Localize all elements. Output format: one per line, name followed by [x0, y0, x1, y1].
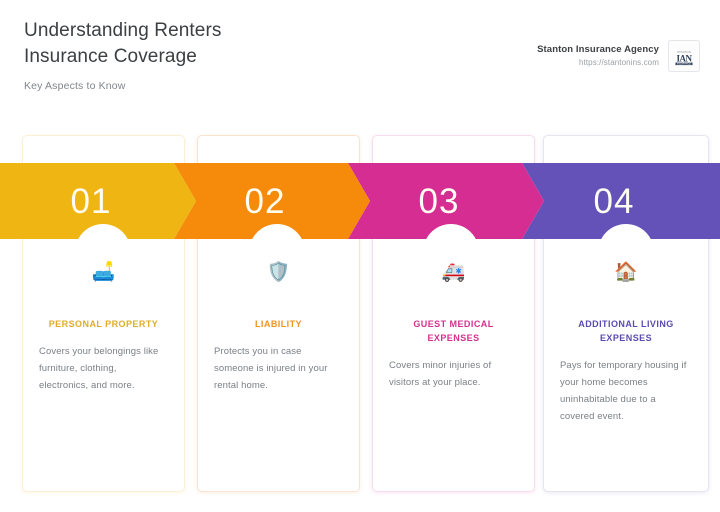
- brand-url[interactable]: https://stantonins.com: [537, 57, 659, 69]
- brand-name: Stanton Insurance Agency: [537, 43, 659, 56]
- step-number-4: 04: [594, 184, 635, 219]
- house-icon: 🏠: [558, 255, 694, 289]
- shield-icon-glyph: 🛡️: [267, 263, 291, 282]
- brand-block: Stanton Insurance Agency https://stanton…: [537, 40, 700, 72]
- house-icon-glyph: 🏠: [614, 263, 638, 282]
- page-title-line-1: Understanding Renters: [24, 18, 444, 44]
- step-card-3-text: Covers minor injuries of visitors at you…: [387, 357, 520, 391]
- shield-icon: 🛡️: [212, 255, 345, 289]
- ambulance-icon-glyph: 🚑: [442, 263, 466, 282]
- step-card-2-body: 🛡️ LIABILITY Protects you in case someon…: [198, 255, 359, 394]
- ambulance-icon: 🚑: [387, 255, 520, 289]
- step-card-4-body: 🏠 ADDITIONAL LIVING EXPENSES Pays for te…: [544, 255, 708, 425]
- couch-icon-glyph: 🛋️: [92, 263, 116, 282]
- brand-text: Stanton Insurance Agency https://stanton…: [537, 43, 659, 69]
- svg-text:INSURANCE: INSURANCE: [677, 63, 691, 66]
- header: Understanding Renters Insurance Coverage…: [0, 0, 720, 120]
- step-card-1-body: 🛋️ PERSONAL PROPERTY Covers your belongi…: [23, 255, 184, 394]
- step-card-2-text: Protects you in case someone is injured …: [212, 343, 345, 394]
- couch-icon: 🛋️: [37, 255, 170, 289]
- step-number-1: 01: [71, 184, 112, 219]
- step-card-4-text: Pays for temporary housing if your home …: [558, 357, 694, 425]
- step-card-3-heading: GUEST MEDICAL EXPENSES: [387, 317, 520, 345]
- infographic-page: Understanding Renters Insurance Coverage…: [0, 0, 720, 512]
- step-number-3: 03: [419, 184, 460, 219]
- page-title: Understanding Renters Insurance Coverage: [24, 18, 444, 70]
- step-card-3-body: 🚑 GUEST MEDICAL EXPENSES Covers minor in…: [373, 255, 534, 391]
- step-card-1-heading: PERSONAL PROPERTY: [37, 317, 170, 331]
- step-card-1-text: Covers your belongings like furniture, c…: [37, 343, 170, 394]
- stanton-monogram-logo-icon: STANTON IAN INSURANCE: [668, 40, 700, 72]
- step-card-2-heading: LIABILITY: [212, 317, 345, 331]
- step-card-4-heading: ADDITIONAL LIVING EXPENSES: [558, 317, 694, 345]
- page-title-line-2: Insurance Coverage: [24, 44, 444, 70]
- page-subtitle: Key Aspects to Know: [24, 79, 444, 93]
- title-block: Understanding Renters Insurance Coverage…: [24, 18, 444, 93]
- step-number-2: 02: [245, 184, 286, 219]
